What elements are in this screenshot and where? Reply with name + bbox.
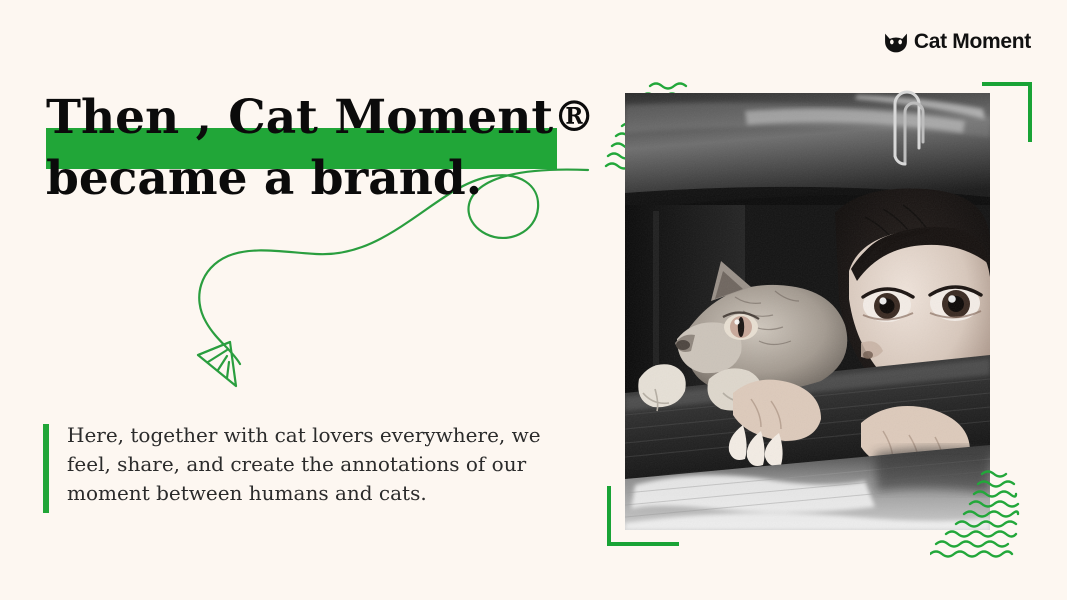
brand-name: Cat Moment: [914, 30, 1031, 54]
corner-bracket-icon-bottom-left: [607, 486, 679, 546]
accent-rule: [43, 424, 49, 513]
body-paragraph: Here, together with cat lovers everywher…: [67, 421, 567, 513]
headline-line-1: Then , Cat Moment®: [46, 86, 606, 148]
photo-area: [598, 70, 1038, 570]
wavy-lines-icon-bottom: [930, 468, 1038, 564]
slide-canvas: Cat Moment Then , Cat Moment® became a b…: [0, 0, 1067, 600]
registered-trademark-symbol: ®: [553, 92, 595, 141]
body-block: Here, together with cat lovers everywher…: [43, 424, 567, 513]
cat-head-icon: [883, 29, 909, 55]
page-title: Then , Cat Moment® became a brand.: [46, 86, 606, 209]
headline-line-1-text: Then , Cat Moment: [46, 90, 553, 145]
headline-line-2: became a brand.: [46, 148, 606, 209]
paperclip-icon: [883, 78, 943, 178]
brand-logo[interactable]: Cat Moment: [883, 29, 1031, 55]
corner-bracket-icon-top-right: [982, 82, 1032, 142]
